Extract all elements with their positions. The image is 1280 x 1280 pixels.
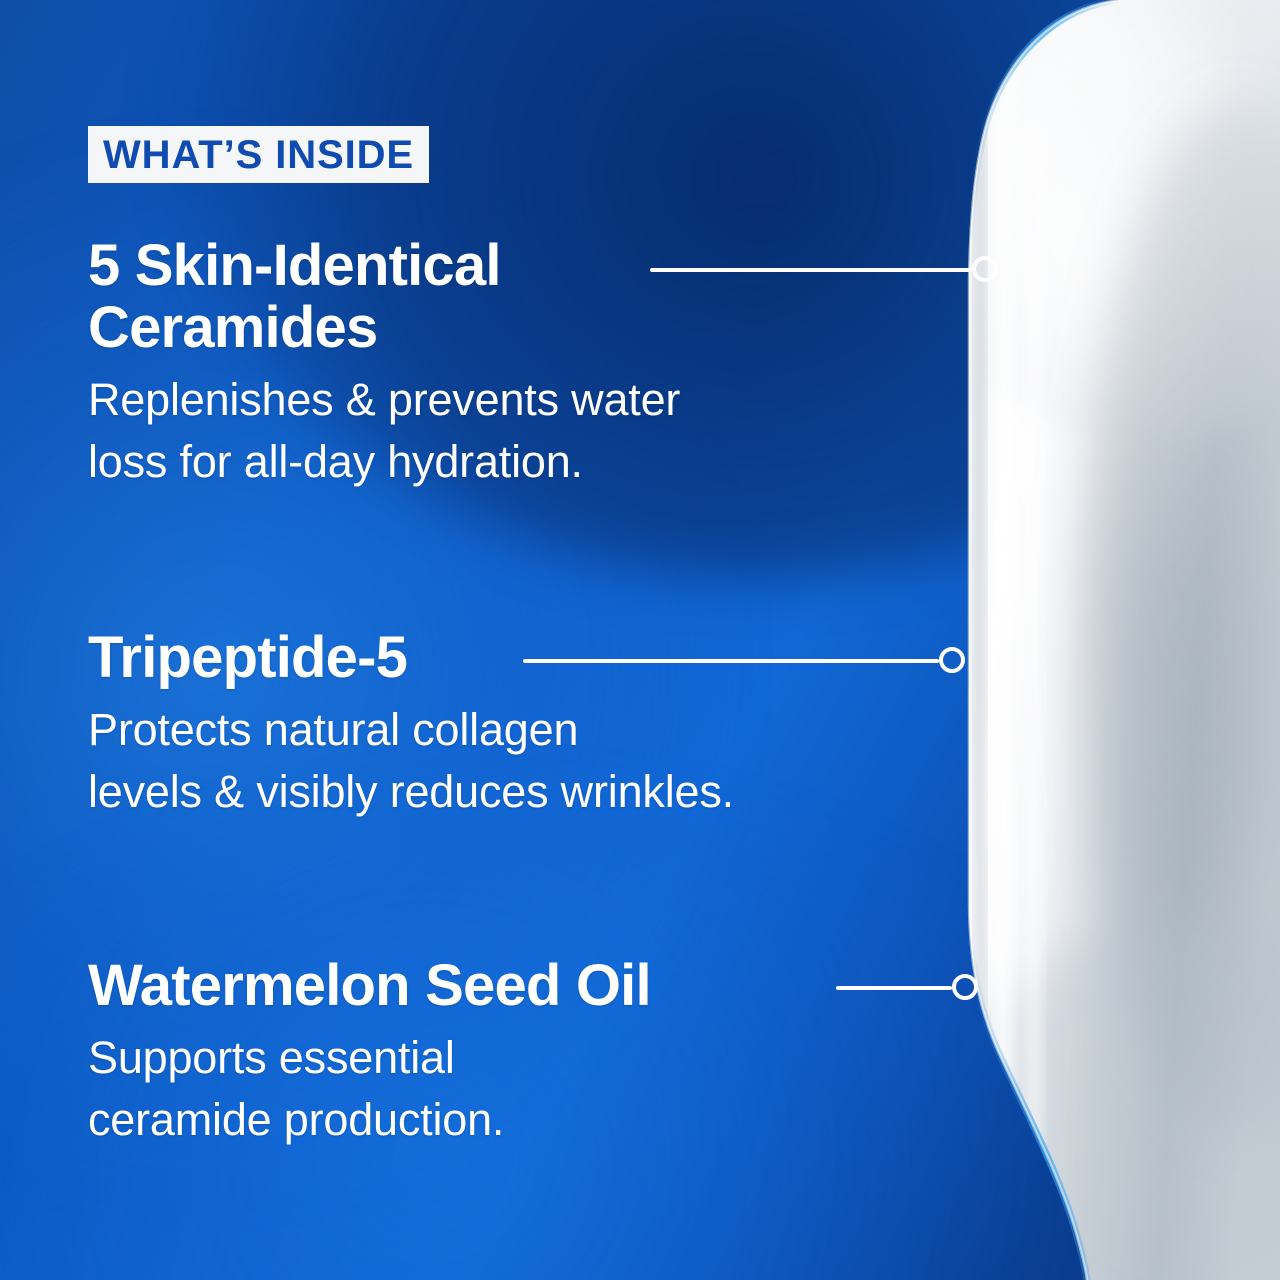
feature-description: Replenishes & prevents water loss for al…: [88, 369, 988, 493]
product-feature-graphic: WHAT’S INSIDE 5 Skin-Identical Ceramides…: [0, 0, 1280, 1280]
feature-block-ceramides: 5 Skin-Identical Ceramides Replenishes &…: [88, 235, 988, 493]
feature-description: Protects natural collagen levels & visib…: [88, 699, 988, 823]
feature-description: Supports essential ceramide production.: [88, 1027, 988, 1151]
feature-block-watermelon-seed-oil: Watermelon Seed Oil Supports essential c…: [88, 955, 988, 1151]
whats-inside-badge: WHAT’S INSIDE: [88, 126, 429, 183]
feature-block-tripeptide: Tripeptide-5 Protects natural collagen l…: [88, 627, 988, 823]
feature-title: Tripeptide-5: [88, 627, 988, 689]
badge-label: WHAT’S INSIDE: [103, 135, 414, 175]
feature-title: Watermelon Seed Oil: [88, 955, 988, 1017]
feature-title: 5 Skin-Identical Ceramides: [88, 235, 988, 359]
